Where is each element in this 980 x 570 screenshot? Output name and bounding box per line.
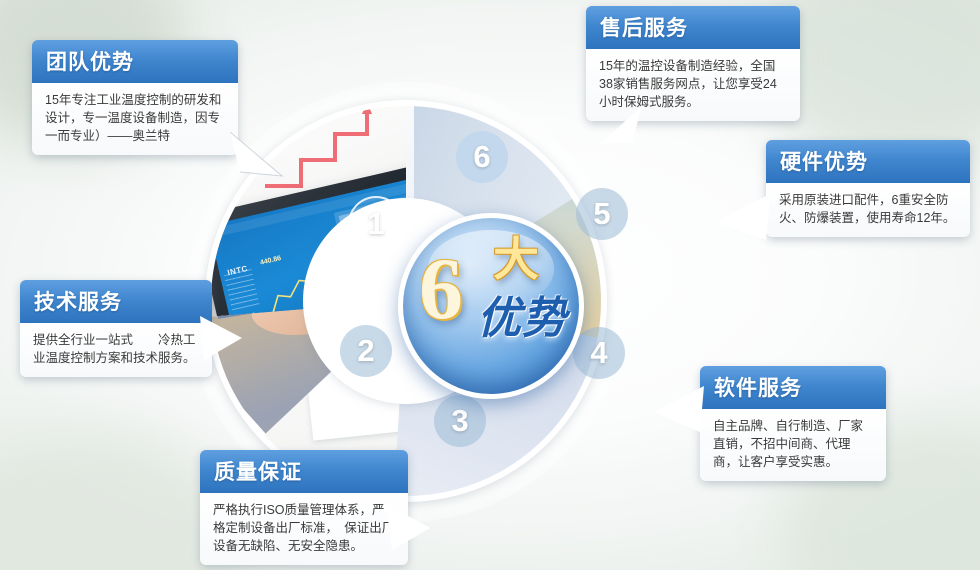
- badge-label: 优势: [477, 296, 567, 342]
- card-technical-body: 提供全行业一站式 冷热工业温度控制方案和技术服务。: [20, 323, 212, 377]
- card-team[interactable]: 团队优势 15年专注工业温度控制的研发和设计，专一温度设备制造，因专一而专业）—…: [32, 40, 238, 155]
- badge-number: 6: [419, 246, 463, 334]
- card-software-tail: [654, 386, 704, 442]
- center-badge[interactable]: 6 大 优势: [398, 213, 584, 399]
- card-aftersales-title: 售后服务: [586, 6, 800, 49]
- card-technical-title: 技术服务: [20, 280, 212, 323]
- card-hardware-tail: [716, 192, 770, 250]
- card-team-tail: [230, 132, 286, 184]
- segment-number-1[interactable]: 1: [348, 196, 404, 252]
- card-quality-body: 严格执行ISO质量管理体系，严格定制设备出厂标准， 保证出厂设备无缺陷、无安全隐…: [200, 493, 408, 565]
- card-quality-tail: [386, 502, 434, 556]
- badge-unit: 大: [493, 236, 539, 282]
- card-hardware[interactable]: 硬件优势 采用原装进口配件，6重安全防火、防爆装置，使用寿命12年。: [766, 140, 970, 237]
- card-team-title: 团队优势: [32, 40, 238, 83]
- segment-number-2[interactable]: 2: [340, 325, 392, 377]
- card-quality-title: 质量保证: [200, 450, 408, 493]
- segment-number-5[interactable]: 5: [576, 188, 628, 240]
- segment-number-6[interactable]: 6: [456, 131, 508, 183]
- card-hardware-title: 硬件优势: [766, 140, 970, 183]
- card-aftersales-tail: [598, 106, 642, 150]
- segment-number-4[interactable]: 4: [573, 327, 625, 379]
- card-software-title: 软件服务: [700, 366, 886, 409]
- segment-number-3[interactable]: 3: [434, 395, 486, 447]
- infographic-canvas: INTC 440.86: [0, 0, 980, 570]
- card-software[interactable]: 软件服务 自主品牌、自行制造、厂家直销，不招中间商、代理商，让客户享受实惠。: [700, 366, 886, 481]
- card-technical[interactable]: 技术服务 提供全行业一站式 冷热工业温度控制方案和技术服务。: [20, 280, 212, 377]
- card-team-body: 15年专注工业温度控制的研发和设计，专一温度设备制造，因专一而专业）——奥兰特: [32, 83, 238, 155]
- card-aftersales[interactable]: 售后服务 15年的温控设备制造经验，全国38家销售服务网点，让您享受24小时保姆…: [586, 6, 800, 121]
- card-software-body: 自主品牌、自行制造、厂家直销，不招中间商、代理商，让客户享受实惠。: [700, 409, 886, 481]
- card-quality[interactable]: 质量保证 严格执行ISO质量管理体系，严格定制设备出厂标准， 保证出厂设备无缺陷…: [200, 450, 408, 565]
- card-hardware-body: 采用原装进口配件，6重安全防火、防爆装置，使用寿命12年。: [766, 183, 970, 237]
- card-technical-tail: [200, 316, 246, 366]
